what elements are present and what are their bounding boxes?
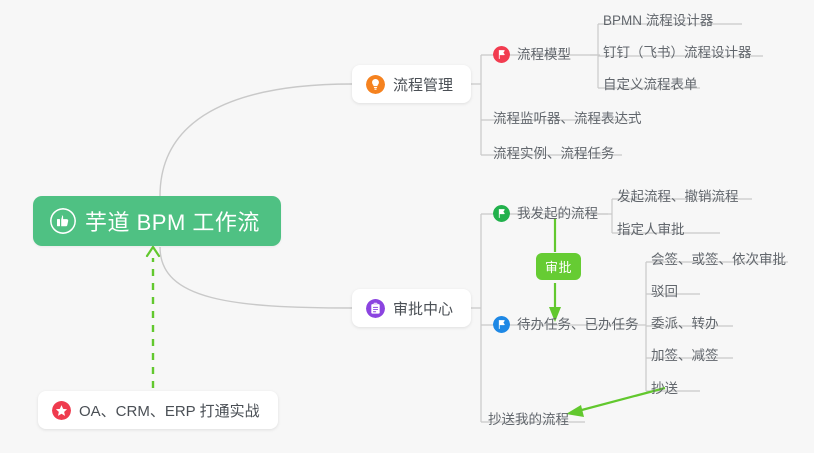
node-label-start-cancel-process: 发起流程、撤销流程 bbox=[617, 189, 739, 204]
node-label-assignee-approval: 指定人审批 bbox=[617, 222, 685, 237]
root-node[interactable]: 芋道 BPM 工作流 bbox=[33, 196, 281, 246]
node-label-todo-done-tasks: 待办任务、已办任务 bbox=[517, 316, 639, 333]
node-my-started-process[interactable]: 我发起的流程 bbox=[493, 205, 598, 227]
node-custom-form[interactable]: 自定义流程表单 bbox=[603, 76, 698, 98]
annotation-approval-text: 审批 bbox=[545, 257, 572, 276]
node-process-instance[interactable]: 流程实例、流程任务 bbox=[493, 145, 615, 167]
annotation-approval-label: 审批 bbox=[536, 253, 581, 280]
node-label-custom-form: 自定义流程表单 bbox=[603, 77, 698, 92]
root-label: 芋道 BPM 工作流 bbox=[85, 205, 260, 237]
node-process-listener[interactable]: 流程监听器、流程表达式 bbox=[493, 110, 642, 132]
node-label-dingtalk-designer: 钉钉（飞书）流程设计器 bbox=[603, 45, 752, 60]
thumbs-up-icon bbox=[50, 208, 76, 234]
node-assignee-approval[interactable]: 指定人审批 bbox=[617, 221, 685, 243]
node-dingtalk-designer[interactable]: 钉钉（飞书）流程设计器 bbox=[603, 44, 752, 66]
node-bpmn-designer[interactable]: BPMN 流程设计器 bbox=[603, 12, 713, 34]
node-label-delegate-transfer: 委派、转办 bbox=[651, 316, 719, 331]
branch-label-approval-center: 审批中心 bbox=[393, 298, 453, 319]
flag-icon bbox=[493, 46, 510, 63]
node-delegate-transfer[interactable]: 委派、转办 bbox=[651, 315, 719, 337]
node-cc-my-process[interactable]: 抄送我的流程 bbox=[488, 411, 569, 433]
node-label-reject: 驳回 bbox=[651, 284, 678, 299]
node-label-my-started-process: 我发起的流程 bbox=[517, 205, 598, 222]
branch-node-process-management[interactable]: 流程管理 bbox=[352, 65, 471, 103]
edge-root-to-process-management bbox=[160, 84, 352, 196]
edge-root-to-approval-center bbox=[160, 247, 352, 308]
footer-card-integration[interactable]: OA、CRM、ERP 打通实战 bbox=[38, 391, 278, 429]
branch-label-process-management: 流程管理 bbox=[393, 74, 453, 95]
node-label-cc: 抄送 bbox=[651, 381, 678, 396]
node-label-process-listener: 流程监听器、流程表达式 bbox=[493, 111, 642, 126]
star-icon bbox=[52, 401, 71, 420]
node-label-process-instance: 流程实例、流程任务 bbox=[493, 146, 615, 161]
node-countersign[interactable]: 会签、或签、依次审批 bbox=[651, 251, 786, 273]
flag-icon bbox=[493, 316, 510, 333]
node-label-cc-my-process: 抄送我的流程 bbox=[488, 412, 569, 427]
node-add-remove-sign[interactable]: 加签、减签 bbox=[651, 347, 719, 369]
node-reject[interactable]: 驳回 bbox=[651, 283, 678, 305]
node-label-add-remove-sign: 加签、减签 bbox=[651, 348, 719, 363]
node-cc[interactable]: 抄送 bbox=[651, 380, 678, 402]
node-todo-done-tasks[interactable]: 待办任务、已办任务 bbox=[493, 316, 639, 338]
node-start-cancel-process[interactable]: 发起流程、撤销流程 bbox=[617, 188, 739, 210]
node-process-model[interactable]: 流程模型 bbox=[493, 46, 571, 68]
mindmap-canvas: 芋道 BPM 工作流 流程管理 流程模型 BPMN 流程设计器 钉钉（飞书）流程… bbox=[0, 0, 814, 453]
clipboard-icon bbox=[366, 299, 385, 318]
node-label-countersign: 会签、或签、依次审批 bbox=[651, 252, 786, 267]
node-label-process-model: 流程模型 bbox=[517, 46, 571, 63]
anno-arrowhead-up bbox=[147, 247, 159, 256]
footer-card-label: OA、CRM、ERP 打通实战 bbox=[79, 400, 260, 421]
branch-node-approval-center[interactable]: 审批中心 bbox=[352, 289, 471, 327]
node-label-bpmn-designer: BPMN 流程设计器 bbox=[603, 13, 713, 28]
flag-icon bbox=[493, 205, 510, 222]
lightbulb-icon bbox=[366, 75, 385, 94]
